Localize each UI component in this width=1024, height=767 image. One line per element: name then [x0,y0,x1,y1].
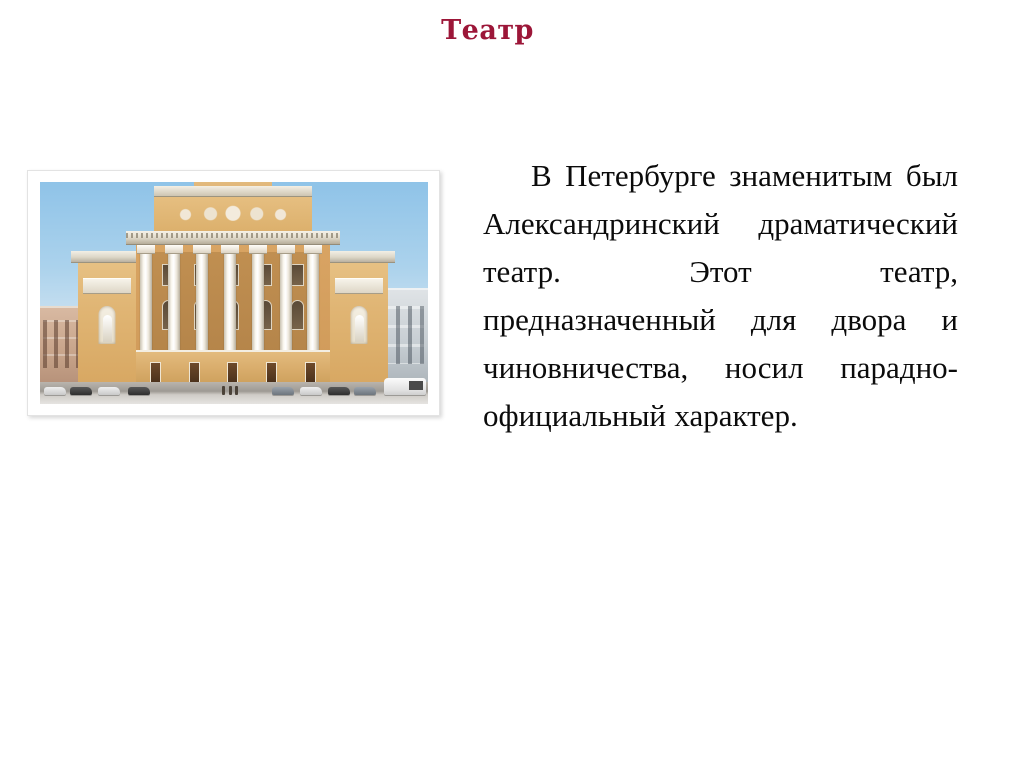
statue-niche-left [99,306,116,344]
pedestrians [222,385,238,395]
car [98,387,120,395]
body-paragraph: В Петербурге знаменитым был Александринс… [483,152,958,440]
car [300,387,322,395]
car [354,387,376,395]
entablature [126,231,340,245]
wing-frieze-right [335,278,383,294]
column [252,247,264,352]
wing-cornice-left [71,251,143,263]
car [328,387,350,395]
car [44,387,66,395]
building-wing-right [330,260,388,382]
theatre-photo-frame[interactable] [27,170,440,416]
entrance-door [305,362,316,382]
page-title: Театр [0,16,975,46]
car [70,387,92,395]
column [140,247,152,352]
attic-storey [154,196,312,235]
column [224,247,236,352]
entrance-door [150,362,161,382]
theatre-photo [40,182,428,404]
white-van [384,378,426,395]
column [168,247,180,352]
street [40,382,428,404]
entrance-door [227,362,238,382]
column [307,247,319,352]
dentil-course [126,233,340,238]
ground-floor [136,350,330,382]
portico [136,242,330,382]
column [280,247,292,352]
column [196,247,208,352]
car [272,387,294,395]
wing-cornice-right [323,251,395,263]
theatre-building [78,208,388,382]
entrance-door [266,362,277,382]
statue-niche-right [351,306,368,344]
wing-frieze-left [83,278,131,294]
door-row [136,358,330,382]
car [128,387,150,395]
attic-relief-frieze [167,205,300,221]
entrance-door [189,362,200,382]
colonnade [140,247,326,352]
building-wing-left [78,260,136,382]
slide: Театр [0,0,1024,767]
attic-cornice [154,186,312,197]
